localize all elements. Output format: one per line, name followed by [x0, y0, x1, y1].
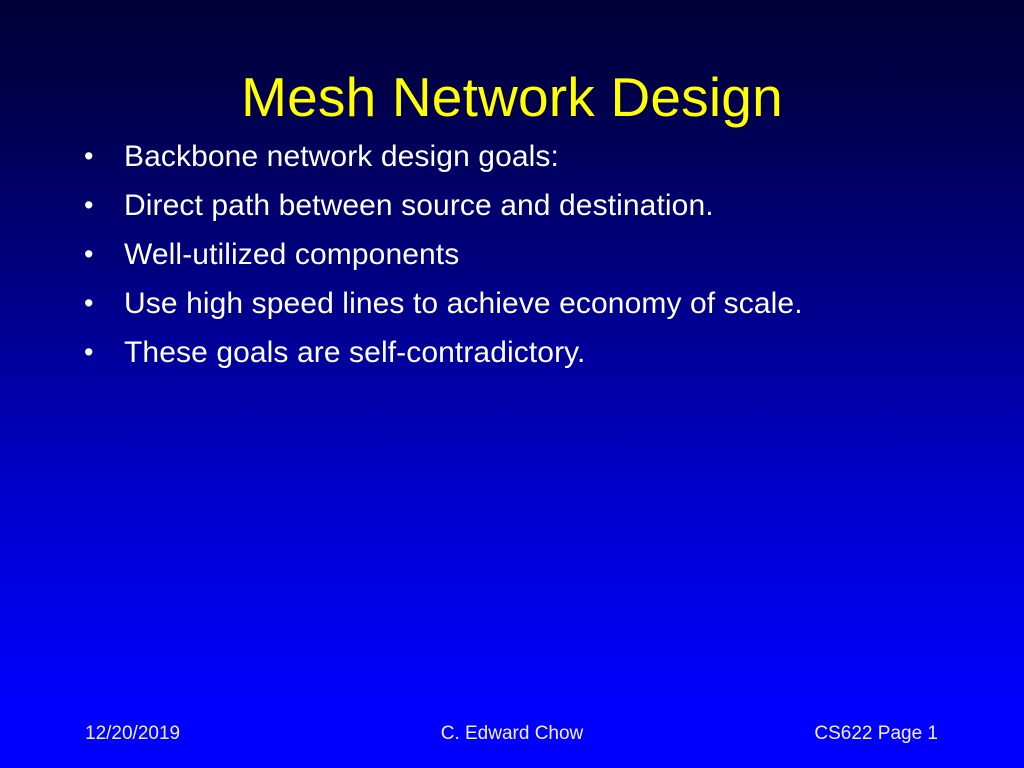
bullet-point-icon: •	[84, 279, 124, 328]
slide-footer: 12/20/2019 C. Edward Chow CS622 Page 1	[0, 722, 1024, 746]
list-item-label: Well-utilized components	[124, 230, 459, 279]
list-item: • These goals are self-contradictory.	[84, 328, 984, 377]
presentation-slide: Mesh Network Design • Backbone network d…	[0, 0, 1024, 768]
list-item-label: Use high speed lines to achieve economy …	[124, 279, 803, 328]
bullet-list: • Backbone network design goals: • Direc…	[84, 132, 984, 377]
list-item: • Direct path between source and destina…	[84, 181, 984, 230]
list-item-label: Backbone network design goals:	[124, 132, 559, 181]
list-item: • Backbone network design goals:	[84, 132, 984, 181]
bullet-point-icon: •	[84, 132, 124, 181]
bullet-point-icon: •	[84, 181, 124, 230]
list-item: • Well-utilized components	[84, 230, 984, 279]
bullet-point-icon: •	[84, 328, 124, 377]
page-title: Mesh Network Design	[0, 65, 1024, 129]
footer-page-number: CS622 Page 1	[814, 722, 938, 746]
list-item-label: Direct path between source and destinati…	[124, 181, 714, 230]
bullet-point-icon: •	[84, 230, 124, 279]
list-item-label: These goals are self-contradictory.	[124, 328, 585, 377]
list-item: • Use high speed lines to achieve econom…	[84, 279, 984, 328]
